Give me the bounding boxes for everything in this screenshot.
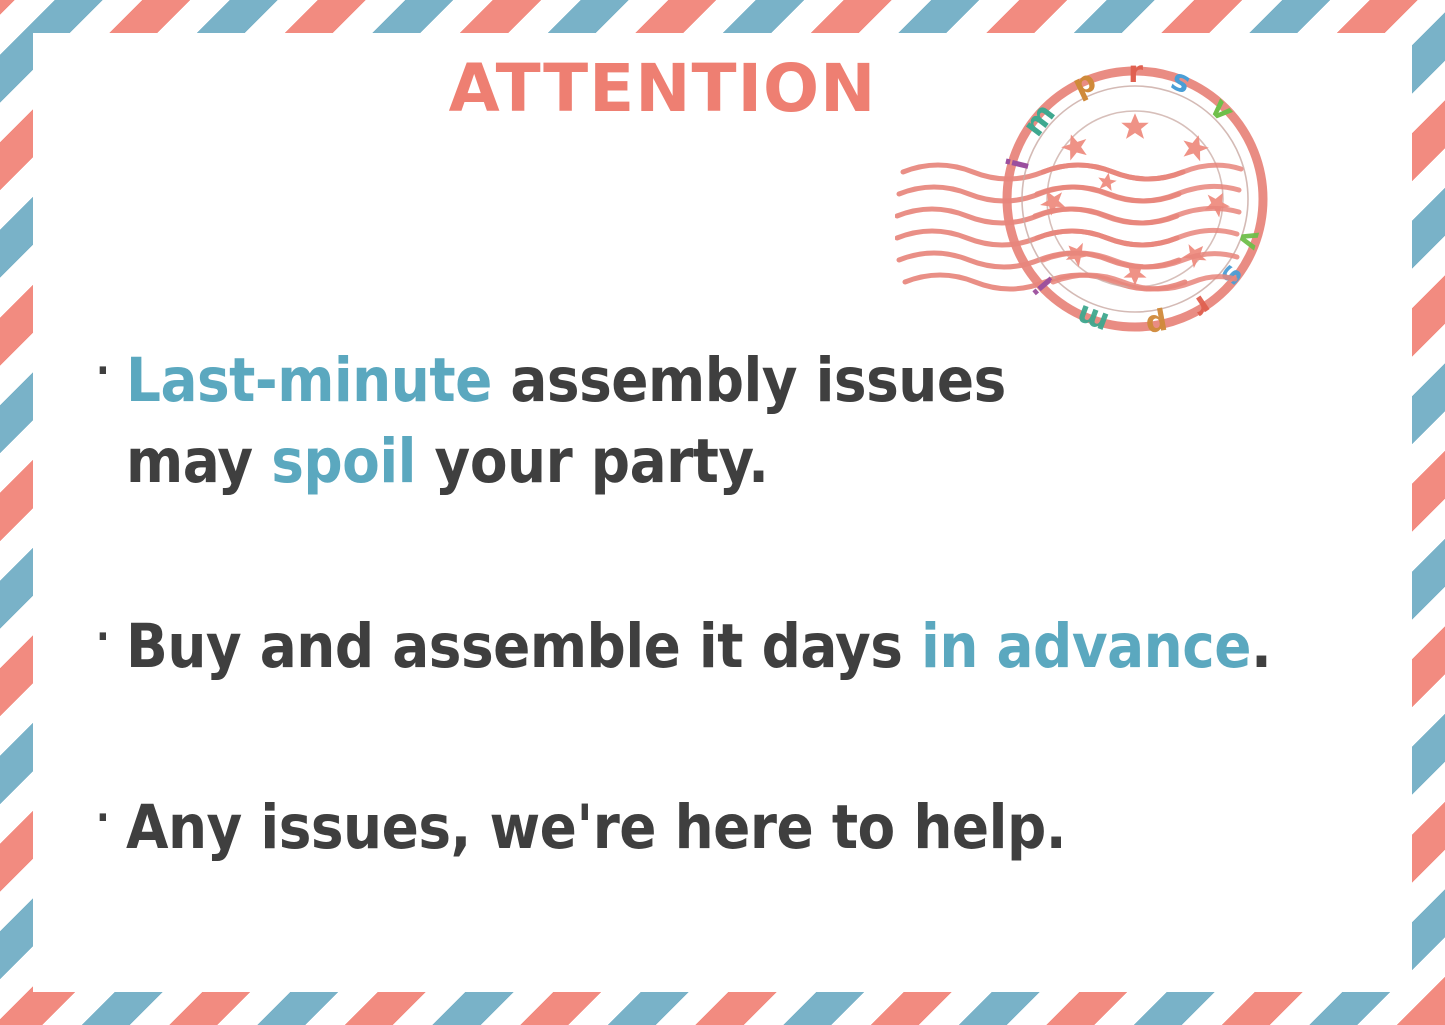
list-item: · Last-minute assembly issues may spoil … bbox=[96, 340, 1405, 502]
list-item-text: Buy and assemble it days in advance. bbox=[126, 606, 1405, 687]
card-content: ATTENTION bbox=[0, 0, 1445, 1025]
svg-text:m: m bbox=[1072, 297, 1114, 337]
bullet-1-dark-2: may bbox=[126, 426, 271, 497]
imprsv-postmark-stamp: i m p r s v v s r p m i bbox=[895, 62, 1395, 337]
list-item: · Any issues, we're here to help. bbox=[96, 787, 1405, 868]
bullet-dot-icon: · bbox=[96, 787, 126, 849]
stamp-brand-text-top: i m p r s v bbox=[1001, 62, 1242, 173]
bullet-2-accent-1: in advance bbox=[921, 611, 1251, 682]
bullet-list: · Last-minute assembly issues may spoil … bbox=[96, 340, 1405, 869]
bullet-1-accent-2: spoil bbox=[271, 426, 416, 497]
bullet-1-accent-1: Last-minute bbox=[126, 345, 492, 416]
list-item: · Buy and assemble it days in advance. bbox=[96, 606, 1405, 687]
svg-text:r: r bbox=[1128, 62, 1143, 90]
list-item-text: Last-minute assembly issues may spoil yo… bbox=[126, 340, 1405, 502]
bullet-dot-icon: · bbox=[96, 340, 126, 402]
bullet-2-dark-2: . bbox=[1251, 611, 1271, 682]
bullet-2-dark-1: Buy and assemble it days bbox=[126, 611, 921, 682]
bullet-1-dark-3: your party. bbox=[416, 426, 768, 497]
list-item-text: Any issues, we're here to help. bbox=[126, 787, 1405, 868]
bullet-1-dark-1: assembly issues bbox=[492, 345, 1006, 416]
cancellation-lines bbox=[897, 165, 1185, 289]
svg-text:p: p bbox=[1143, 305, 1171, 337]
bullet-3-dark-1: Any issues, we're here to help. bbox=[126, 792, 1066, 863]
bullet-dot-icon: · bbox=[96, 606, 126, 668]
airmail-envelope-card: ATTENTION bbox=[0, 0, 1445, 1025]
